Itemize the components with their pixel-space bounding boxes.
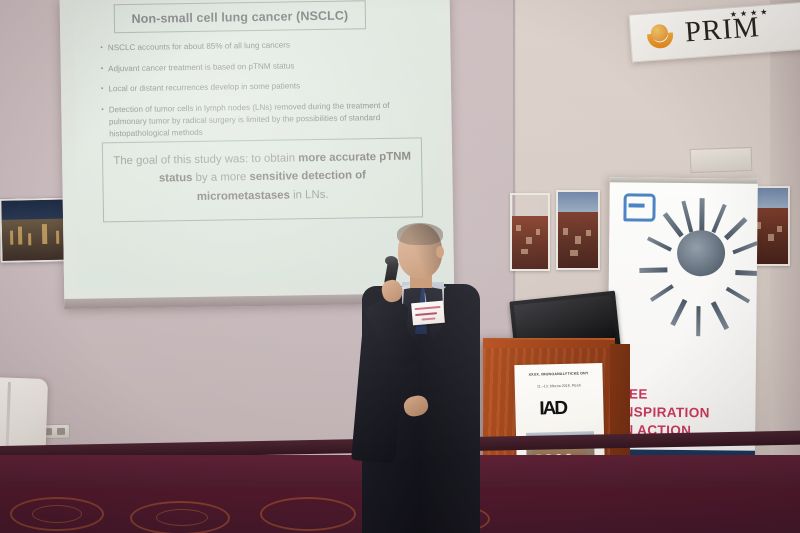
goal-line3-plain: in LNs.	[290, 189, 329, 202]
list-item: • Local or distant recurrences develop i…	[101, 79, 419, 96]
poster-title: XXXX. IMUNOANALYTICKÉ DNY	[521, 371, 597, 377]
list-item: • NSCLC accounts for about 85% of all lu…	[100, 37, 418, 54]
ear	[436, 246, 444, 258]
goal-line2-plain: by a more	[192, 172, 249, 185]
poster-date: 11.–13. března 2018, Plzeň	[521, 383, 597, 389]
bullet-text: NSCLC accounts for about 85% of all lung…	[108, 39, 290, 54]
bullet-icon: •	[100, 42, 103, 53]
slide-bullet-list: • NSCLC accounts for about 85% of all lu…	[100, 37, 419, 139]
sun-logo-icon	[646, 22, 674, 50]
poster-logo: IAD	[539, 397, 582, 420]
name-badge	[411, 301, 445, 326]
bullet-icon: •	[101, 63, 104, 74]
bullet-text: Adjuvant cancer treatment is based on pT…	[108, 60, 294, 75]
goal-line1-bold: more	[298, 152, 326, 164]
tagline-line-1: SEE	[619, 385, 739, 404]
list-item: • Adjuvant cancer treatment is based on …	[101, 58, 419, 75]
banner-top-rail	[610, 177, 758, 184]
bullet-text: Local or distant recurrences develop in …	[108, 81, 300, 96]
city-globe-graphic	[650, 196, 755, 309]
goal-line2-bold-b: sensitive	[249, 171, 298, 184]
slide-goal-box: The goal of this study was: to obtain mo…	[102, 137, 423, 222]
conference-room-photo: Non-small cell lung cancer (NSCLC) • NSC…	[0, 0, 800, 533]
wall-plaque	[690, 147, 753, 173]
list-item: • Detection of tumor cells in lymph node…	[101, 100, 420, 140]
bullet-text: Detection of tumor cells in lymph nodes …	[109, 100, 420, 140]
slide-title-box: Non-small cell lung cancer (NSCLC)	[114, 0, 366, 33]
hotel-brand-text: PRIM	[684, 11, 761, 49]
framed-prague-rooftops-2	[556, 190, 600, 270]
framed-prague-rooftops-1	[510, 193, 550, 271]
abbott-a-logo-bar	[629, 203, 645, 207]
slide-title: Non-small cell lung cancer (NSCLC)	[115, 1, 365, 32]
goal-statement: The goal of this study was: to obtain mo…	[113, 148, 412, 208]
tagline-line-2: INSPIRATION	[619, 403, 739, 422]
presenter-with-microphone	[352, 224, 480, 533]
goal-line1-plain: The goal of this study was: to obtain	[113, 152, 298, 167]
bullet-icon: •	[101, 105, 104, 116]
bullet-icon: •	[101, 84, 104, 95]
